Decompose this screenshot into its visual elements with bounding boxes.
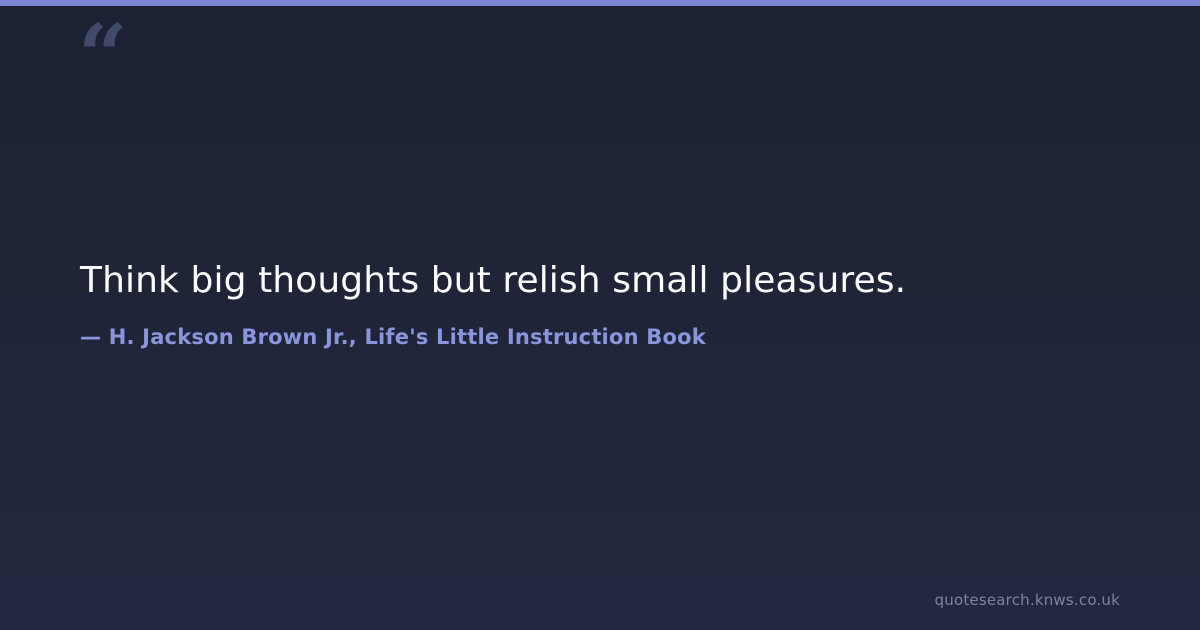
- quote-text: Think big thoughts but relish small plea…: [80, 258, 1120, 304]
- quote-content: Think big thoughts but relish small plea…: [80, 258, 1120, 350]
- quote-attribution: — H. Jackson Brown Jr., Life's Little In…: [80, 304, 1120, 350]
- site-watermark: quotesearch.knws.co.uk: [935, 593, 1120, 608]
- top-accent-bar: [0, 0, 1200, 6]
- quotation-mark-icon: “: [78, 14, 125, 100]
- quote-card: “ Think big thoughts but relish small pl…: [0, 0, 1200, 630]
